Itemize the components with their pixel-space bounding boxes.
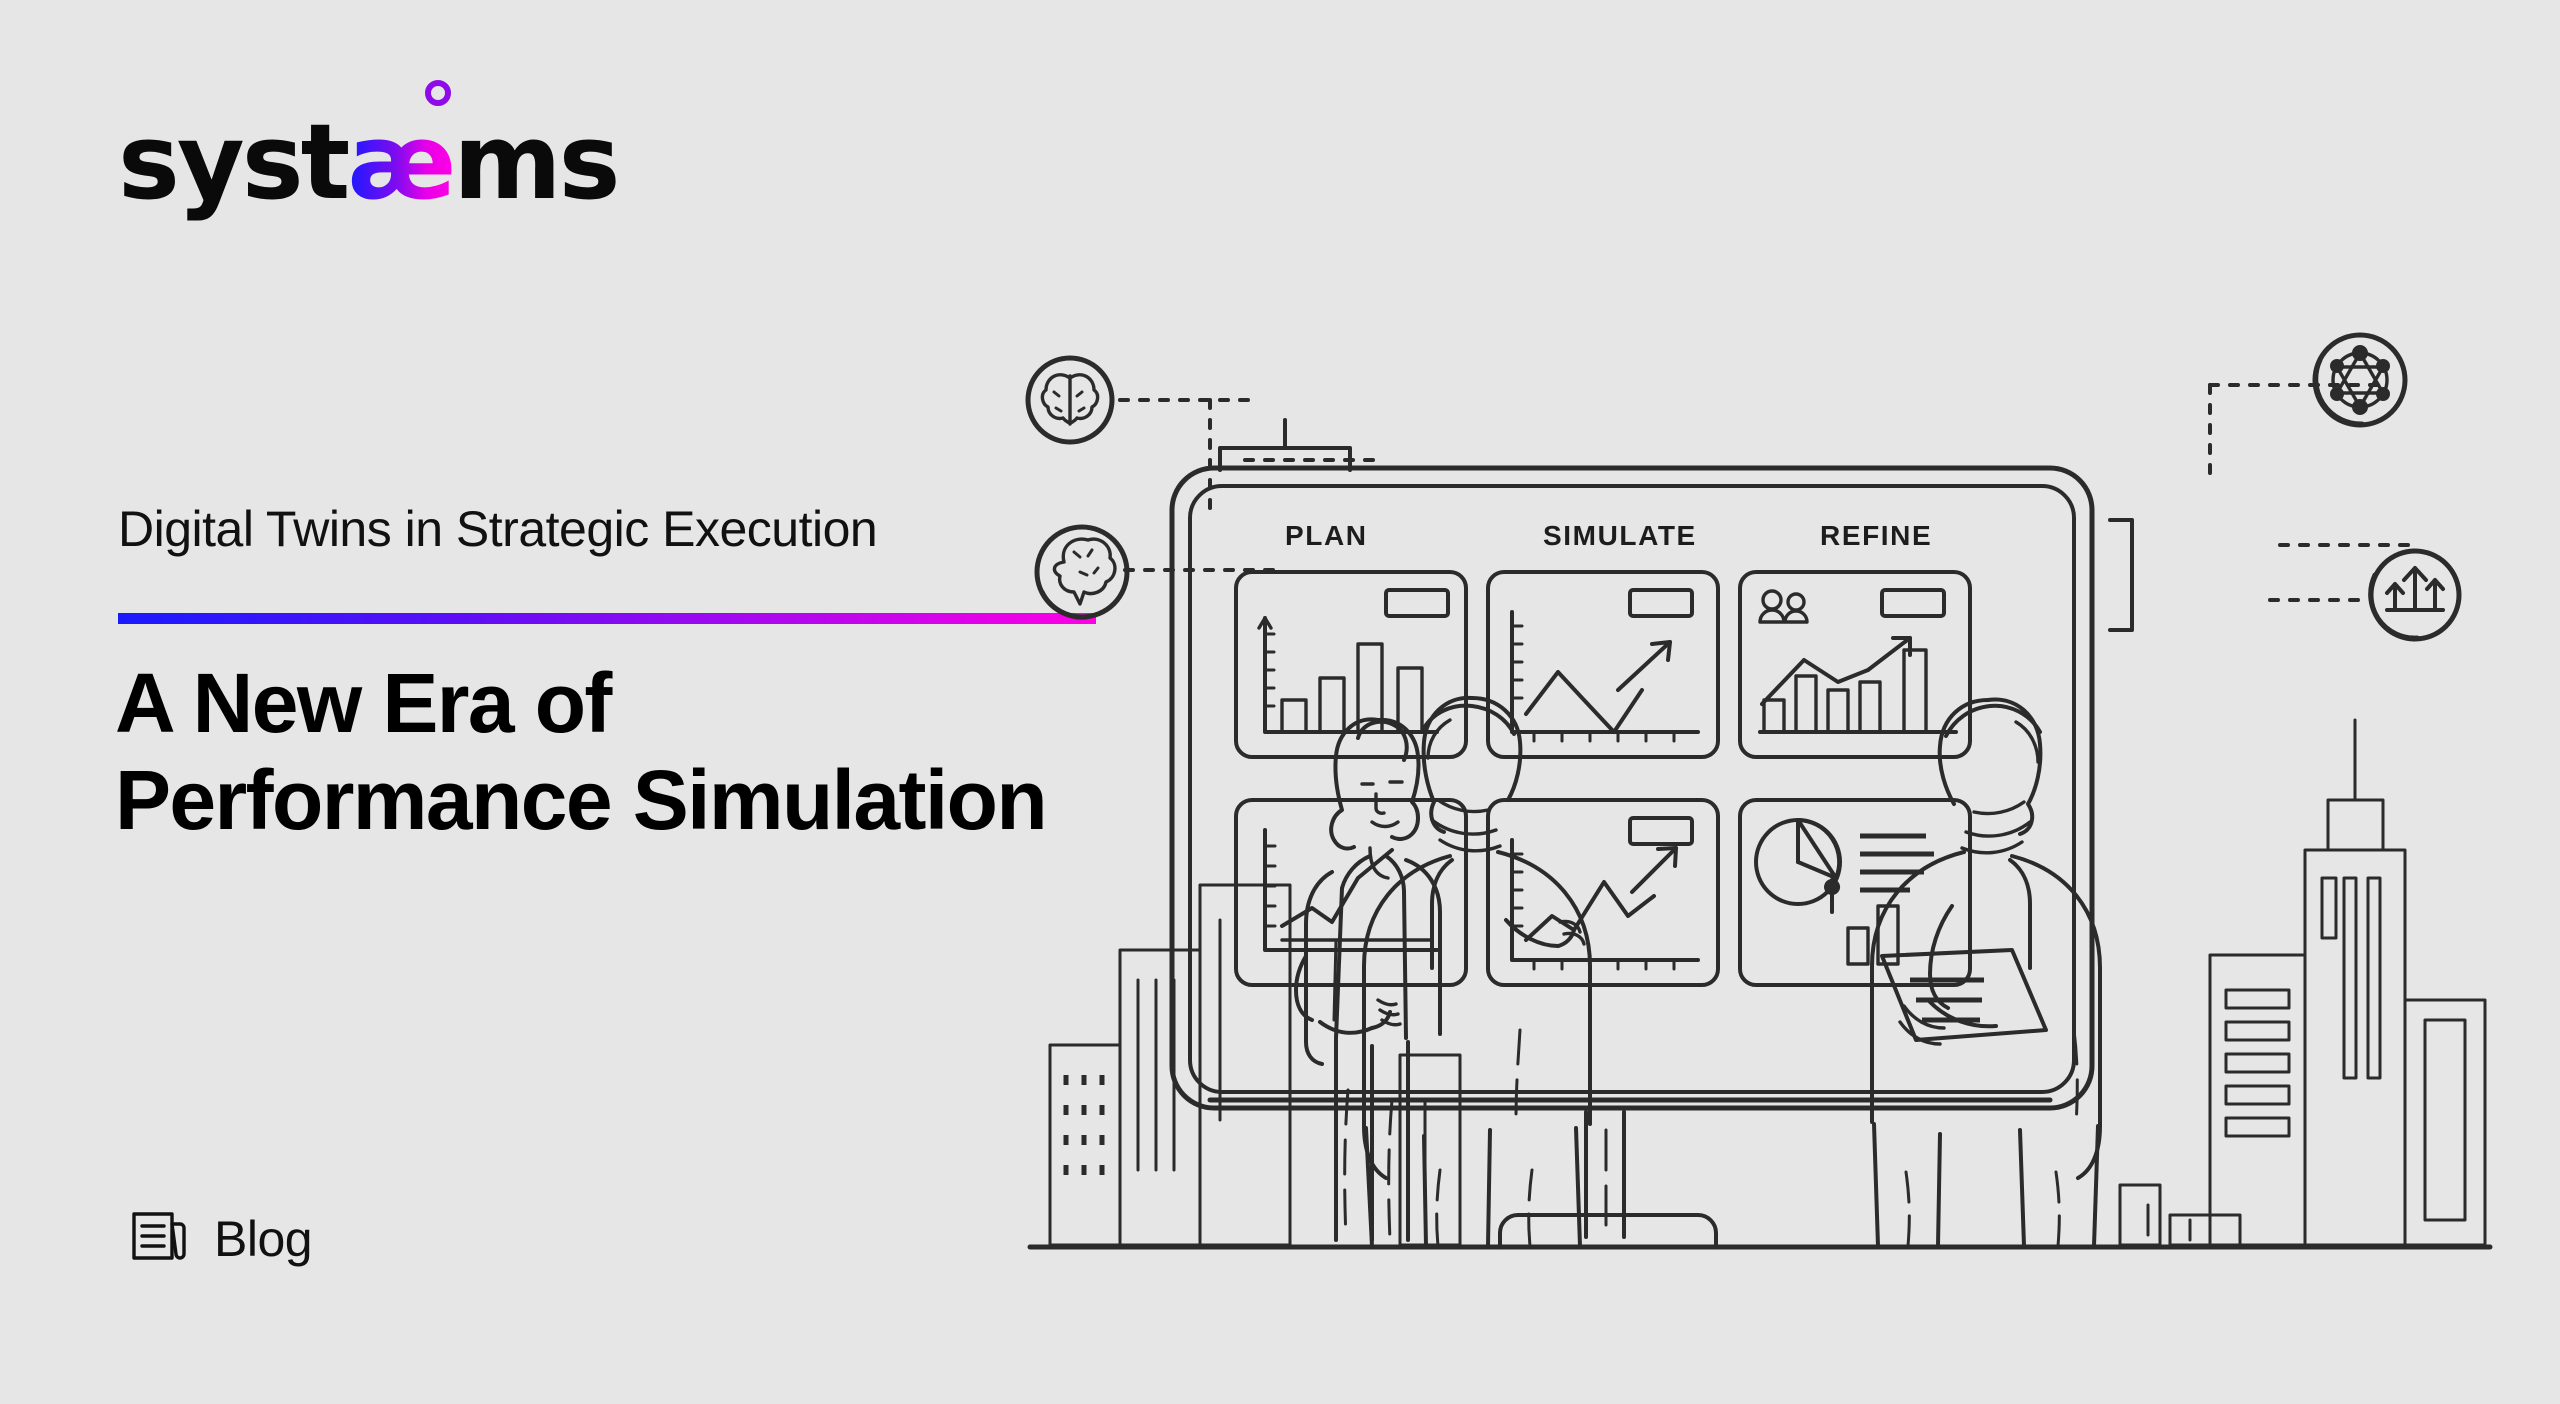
whiteboard [1172,468,2092,1108]
panel-refine-pie-chart [1740,800,1970,985]
city-skyline-right [2120,720,2485,1245]
right-bracket [2110,520,2132,630]
category-label: Blog [214,1210,312,1268]
logo-prefix: syst [118,110,347,214]
column-header-simulate: SIMULATE [1543,520,1697,551]
newspaper-icon [130,1208,188,1269]
gradient-divider [118,613,1096,624]
poster-canvas: syst æ ms Digital Twins in Strategic Exe… [0,0,2560,1404]
panel-plan-bar-chart [1236,572,1466,757]
column-header-refine: REFINE [1820,520,1932,551]
brain-profile-icon [1037,527,1127,617]
people-icon [1760,591,1807,622]
brain-top-icon [1028,358,1112,442]
digital-twin-boardroom-illustration: PLAN SIMULATE REFINE [1020,300,2500,1310]
panel-simulate-line-chart-2 [1488,800,1718,985]
panel-refine-combo-chart [1740,572,1970,757]
column-header-plan: PLAN [1285,520,1368,551]
logo-ae-ligature: æ [347,110,453,214]
eyebrow-text: Digital Twins in Strategic Execution [118,500,877,558]
panel-simulate-line-chart [1488,572,1718,757]
page-title: A New Era of Performance Simulation [115,655,1046,850]
connector-lines [1120,385,2410,600]
man-with-tablet [1872,699,2100,1246]
logo-suffix: ms [453,110,617,214]
man-pointing [1364,698,1590,1246]
growth-arrows-icon [2371,551,2459,639]
logo-ligature-glyph: æ [347,101,453,223]
network-node-icon [2315,335,2405,425]
top-bracket [1220,420,1350,470]
brand-logo[interactable]: syst æ ms [118,110,618,214]
whiteboard-headers: PLAN SIMULATE REFINE [1285,520,1932,551]
category-badge[interactable]: Blog [130,1208,312,1269]
